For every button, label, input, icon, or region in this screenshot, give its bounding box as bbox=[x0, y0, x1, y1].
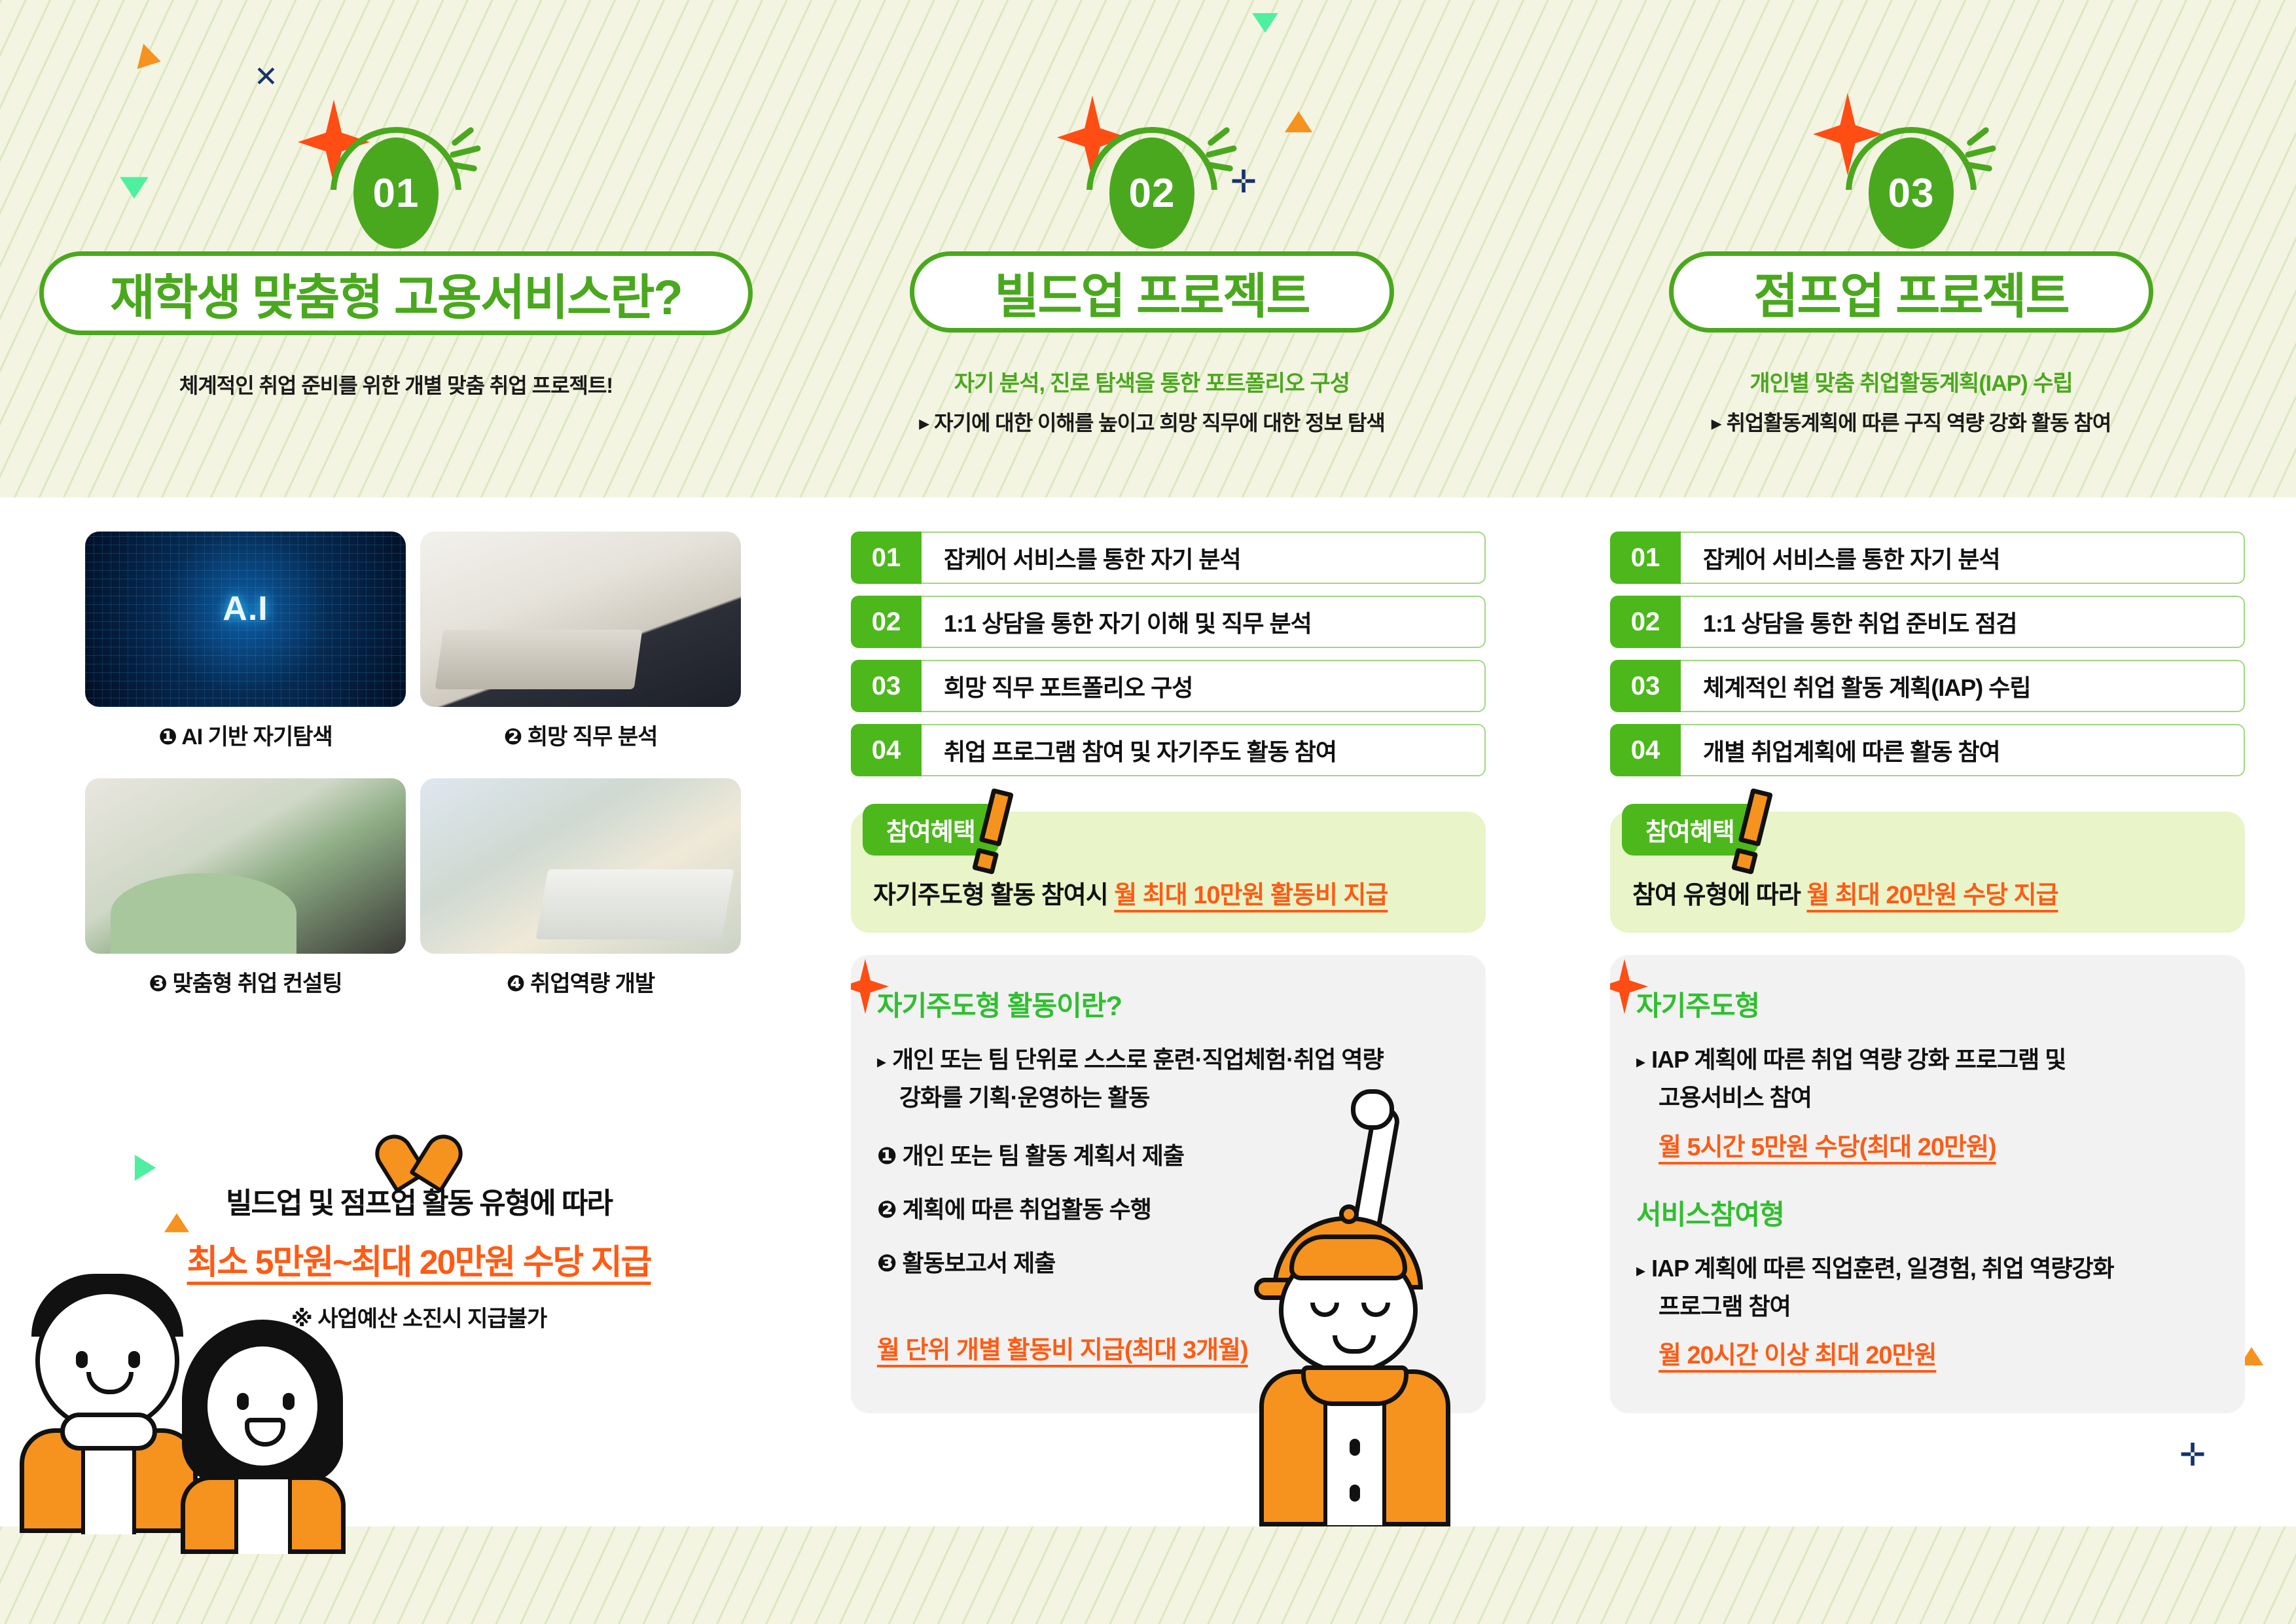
step-text: 잡케어 서비스를 통한 자기 분석 bbox=[922, 532, 1486, 584]
detail-num-glyph-1: ❶ bbox=[877, 1142, 896, 1169]
step-number: 03 bbox=[1610, 660, 1681, 712]
step-number: 03 bbox=[851, 660, 922, 712]
bullet-icon: ▸ bbox=[877, 1051, 886, 1072]
step-number: 01 bbox=[1610, 532, 1681, 584]
detail-num-text-1: 개인 또는 팀 활동 계획서 제출 bbox=[903, 1142, 1184, 1169]
column-3-steps: 01 잡케어 서비스를 통한 자기 분석 02 1:1 상담을 통한 취업 준비… bbox=[1610, 532, 2245, 1413]
benefit-highlight: 월 최대 10만원 활동비 지급 bbox=[1114, 882, 1388, 909]
mascot-boy-eye-left bbox=[76, 1351, 88, 1368]
column-3-title: 점프업 프로젝트 bbox=[1669, 251, 2153, 333]
detail-group-1-line-2: 고용서비스 참여 bbox=[1636, 1079, 2219, 1117]
column-1-title: 재학생 맞춤형 고용서비스란? bbox=[39, 251, 753, 335]
detail-group-2-line-2: 프로그램 참여 bbox=[1636, 1288, 2219, 1326]
step-text: 1:1 상담을 통한 취업 준비도 점검 bbox=[1681, 596, 2245, 648]
mascot-girl bbox=[169, 1320, 359, 1536]
detail-num-glyph-2: ❷ bbox=[877, 1196, 896, 1223]
detail-group-2-title: 서비스참여형 bbox=[1636, 1193, 2219, 1233]
mascot-pair bbox=[13, 1262, 419, 1530]
step-row[interactable]: 04 취업 프로그램 참여 및 자기주도 활동 참여 bbox=[851, 724, 1486, 776]
photo-caption-1: ❶ AI 기반 자기탐색 bbox=[85, 719, 406, 751]
mascot-cheering bbox=[1230, 1106, 1505, 1525]
mascot-cap-button bbox=[1339, 1204, 1359, 1224]
column-2-header: 02 빌드업 프로젝트 자기 분석, 진로 탐색을 통한 포트폴리오 구성 ▸ … bbox=[857, 137, 1446, 437]
photo-caption-4: ❹ 취업역량 개발 bbox=[420, 965, 741, 998]
caption-number-1: ❶ bbox=[158, 725, 177, 749]
column-3-detail-box: 자기주도형 ▸IAP 계획에 따른 취업 역량 강화 프로그램 및 고용서비스 … bbox=[1610, 955, 2245, 1413]
detail-group-2-highlight-wrap: 월 20시간 이상 최대 20만원 bbox=[1636, 1326, 2219, 1371]
detail-bullet-text-1: 개인 또는 팀 단위로 스스로 훈련·직업체험·취업 역량 bbox=[892, 1046, 1384, 1073]
detail-group-1-title: 자기주도형 bbox=[1636, 984, 2219, 1024]
caption-number-3: ❸ bbox=[149, 971, 167, 996]
mascot-button-2 bbox=[1350, 1485, 1360, 1502]
step-row[interactable]: 01 잡케어 서비스를 통한 자기 분석 bbox=[851, 532, 1486, 584]
step-row[interactable]: 01 잡케어 서비스를 통한 자기 분석 bbox=[1610, 532, 2245, 584]
mascot-button-1 bbox=[1350, 1439, 1360, 1456]
mascot-collar bbox=[1301, 1365, 1408, 1406]
photo-ai-self-exploration bbox=[85, 532, 406, 707]
step-row[interactable]: 04 개별 취업계획에 따른 활동 참여 bbox=[1610, 724, 2245, 776]
step-text: 체계적인 취업 활동 계획(IAP) 수립 bbox=[1681, 660, 2245, 712]
step-text: 개별 취업계획에 따른 활동 참여 bbox=[1681, 724, 2245, 776]
heart-icon bbox=[391, 1119, 447, 1170]
photo-job-analysis bbox=[420, 532, 741, 707]
caption-text-4: 취업역량 개발 bbox=[530, 971, 655, 996]
bullet-icon: ▸ bbox=[1636, 1260, 1645, 1280]
detail-group-2-line-1: ▸IAP 계획에 따른 직업훈련, 일경험, 취업 역량강화 bbox=[1636, 1250, 2219, 1288]
step-badge-02: 02 bbox=[1109, 137, 1194, 249]
mascot-cheering-hair-front bbox=[1289, 1235, 1407, 1280]
detail-group-1-text-1: IAP 계획에 따른 취업 역량 강화 프로그램 및 bbox=[1651, 1046, 2066, 1073]
photo-caption-2: ❷ 희망 직무 분석 bbox=[420, 719, 741, 751]
step-row[interactable]: 02 1:1 상담을 통한 자기 이해 및 직무 분석 bbox=[851, 596, 1486, 648]
column-3-subtitle: 개인별 맞춤 취업활동계획(IAP) 수립 bbox=[1617, 365, 2206, 397]
orange-sparkle-icon bbox=[1610, 959, 1648, 1014]
mascot-girl-face bbox=[203, 1342, 322, 1470]
step-row[interactable]: 03 체계적인 취업 활동 계획(IAP) 수립 bbox=[1610, 660, 2245, 712]
column-2-note: ▸ 자기에 대한 이해를 높이고 희망 직무에 대한 정보 탐색 bbox=[857, 406, 1446, 437]
benefit-highlight: 월 최대 20만원 수당 지급 bbox=[1806, 882, 2058, 909]
step-row[interactable]: 03 희망 직무 포트폴리오 구성 bbox=[851, 660, 1486, 712]
column-3-benefit: 참여혜택 참여 유형에 따라 월 최대 20만원 수당 지급 bbox=[1610, 812, 2245, 933]
step-number: 04 bbox=[1610, 724, 1681, 776]
step-text: 취업 프로그램 참여 및 자기주도 활동 참여 bbox=[922, 724, 1486, 776]
step-badge-01: 01 bbox=[353, 137, 439, 249]
step-number: 04 bbox=[851, 724, 922, 776]
step-number: 01 bbox=[851, 532, 922, 584]
step-number: 02 bbox=[851, 596, 922, 648]
detail-group-2-highlight: 월 20시간 이상 최대 20만원 bbox=[1659, 1335, 1936, 1371]
bullet-icon: ▸ bbox=[1636, 1051, 1645, 1072]
detail-bullet-line-1: ▸개인 또는 팀 단위로 스스로 훈련·직업체험·취업 역량 bbox=[877, 1041, 1460, 1079]
caption-number-2: ❷ bbox=[504, 725, 522, 749]
column-2-title: 빌드업 프로젝트 bbox=[910, 251, 1394, 333]
benefit-prefix: 자기주도형 활동 참여시 bbox=[873, 882, 1114, 909]
column-1-photo-grid: ❶ AI 기반 자기탐색 ❷ 희망 직무 분석 ❸ 맞춤형 취업 컨설팅 ❹ 취… bbox=[85, 532, 753, 998]
detail-footer-highlight: 월 단위 개별 활동비 지급(최대 3개월) bbox=[877, 1329, 1248, 1365]
photo-employment-consulting bbox=[85, 778, 406, 954]
photo-caption-3: ❸ 맞춤형 취업 컨설팅 bbox=[85, 965, 406, 998]
step-text: 1:1 상담을 통한 자기 이해 및 직무 분석 bbox=[922, 596, 1486, 648]
step-text: 잡케어 서비스를 통한 자기 분석 bbox=[1681, 532, 2245, 584]
mascot-hand bbox=[1351, 1089, 1394, 1130]
photo-capability-development bbox=[420, 778, 741, 954]
caption-number-4: ❹ bbox=[507, 971, 525, 996]
step-text: 희망 직무 포트폴리오 구성 bbox=[922, 660, 1486, 712]
detail-title: 자기주도형 활동이란? bbox=[877, 984, 1460, 1024]
mascot-boy-shirt bbox=[81, 1436, 136, 1534]
column-3-header: 03 점프업 프로젝트 개인별 맞춤 취업활동계획(IAP) 수립 ▸ 취업활동… bbox=[1617, 137, 2206, 437]
detail-num-text-3: 활동보고서 제출 bbox=[903, 1250, 1056, 1276]
badge-rays-icon bbox=[1965, 134, 1996, 179]
caption-text-3: 맞춤형 취업 컨설팅 bbox=[173, 971, 342, 996]
detail-group-1-highlight-wrap: 월 5시간 5만원 수당(최대 20만원) bbox=[1636, 1117, 2219, 1163]
orange-sparkle-icon bbox=[851, 959, 889, 1014]
column-1-note: 체계적인 취업 준비를 위한 개별 맞춤 취업 프로젝트! bbox=[39, 369, 753, 399]
step-badge-03: 03 bbox=[1869, 137, 1954, 249]
mascot-boy-collar bbox=[60, 1413, 157, 1451]
mascot-boy-eye-right bbox=[128, 1351, 140, 1368]
detail-group-1-line-1: ▸IAP 계획에 따른 취업 역량 강화 프로그램 및 bbox=[1636, 1041, 2219, 1079]
mascot-boy-face bbox=[35, 1290, 179, 1432]
badge-wrap-02: 02 bbox=[857, 137, 1446, 268]
badge-wrap-01: 01 bbox=[39, 137, 753, 268]
detail-group-1-highlight: 월 5시간 5만원 수당(최대 20만원) bbox=[1659, 1127, 1996, 1163]
column-2-subtitle: 자기 분석, 진로 탐색을 통한 포트폴리오 구성 bbox=[857, 365, 1446, 397]
mascot-girl-eye-right bbox=[283, 1393, 295, 1410]
badge-rays-icon bbox=[450, 134, 481, 179]
badge-wrap-03: 03 bbox=[1617, 137, 2206, 268]
mascot-girl-eye-left bbox=[237, 1393, 249, 1410]
badge-rays-icon bbox=[1206, 134, 1237, 179]
detail-num-glyph-3: ❸ bbox=[877, 1250, 896, 1276]
detail-group-2-text-1: IAP 계획에 따른 직업훈련, 일경험, 취업 역량강화 bbox=[1651, 1255, 2114, 1282]
column-1-header: 01 재학생 맞춤형 고용서비스란? 체계적인 취업 준비를 위한 개별 맞춤 … bbox=[39, 137, 753, 399]
mascot-girl-shirt bbox=[234, 1479, 292, 1554]
callout-line-1: 빌드업 및 점프업 활동 유형에 따라 bbox=[85, 1180, 753, 1221]
benefit-prefix: 참여 유형에 따라 bbox=[1632, 882, 1806, 909]
step-row[interactable]: 02 1:1 상담을 통한 취업 준비도 점검 bbox=[1610, 596, 2245, 648]
caption-text-2: 희망 직무 분석 bbox=[528, 725, 658, 749]
column-3-note: ▸ 취업활동계획에 따른 구직 역량 강화 활동 참여 bbox=[1617, 406, 2206, 437]
detail-num-text-2: 계획에 따른 취업활동 수행 bbox=[903, 1196, 1151, 1223]
step-number: 02 bbox=[1610, 596, 1681, 648]
column-2-benefit: 참여혜택 자기주도형 활동 참여시 월 최대 10만원 활동비 지급 bbox=[851, 812, 1486, 933]
caption-text-1: AI 기반 자기탐색 bbox=[181, 725, 332, 749]
